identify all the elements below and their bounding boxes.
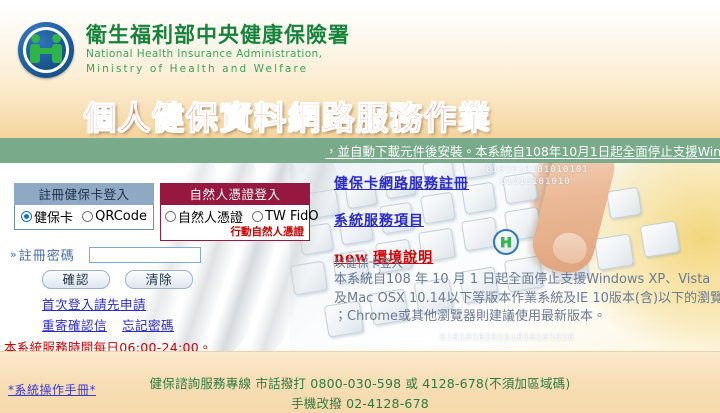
notice-block: 以健保卡登入 本系統自108 年 10 月 1 日起全面停止支援Windows … — [334, 255, 716, 327]
link-card-service-registration[interactable]: 健保卡網路服務註冊 — [334, 173, 469, 193]
site-header: 衛生福利部中央健康保險署 National Health Insurance A… — [0, 0, 720, 138]
radio-citizen-cert-icon[interactable] — [165, 211, 176, 222]
radio-citizen-cert-label: 自然人憑證 — [178, 207, 243, 226]
org-title-en-line2: Ministry of Health and Welfare — [86, 62, 350, 77]
radio-option-health-card[interactable]: 健保卡 — [21, 207, 73, 226]
card-login-heading: 註冊健保卡登入 — [14, 183, 154, 205]
notice-line-3: 及Mac OSX 10.14以下等版本作業系統及IE 10版本(含)以下的瀏覽器 — [334, 290, 716, 308]
first-time-apply-link[interactable]: 首次登入請先申請 — [42, 294, 146, 313]
notice-line-4: ；Chrome或其他瀏覽器則建議使用最新版本。 — [334, 308, 716, 326]
card-login-panel: 註冊健保卡登入 健保卡 QRCode — [14, 183, 154, 230]
password-row: » 註冊密碼 — [10, 245, 201, 264]
radio-option-qrcode[interactable]: QRCode — [82, 209, 147, 224]
radio-qrcode-icon[interactable] — [82, 211, 93, 222]
radio-option-citizen-cert[interactable]: 自然人憑證 — [165, 207, 243, 226]
binary-decor-2: 01010101010 — [500, 177, 571, 187]
radio-tw-fido-icon[interactable] — [252, 211, 263, 222]
announcement-marquee: ，並自動下載元件後安裝。本系統自108年10月1日起全面停止支援Window — [0, 138, 720, 163]
binary-decor-3: 010101010101010101010 — [440, 333, 575, 343]
radio-tw-fido-label: TW FidO — [265, 209, 319, 224]
password-label: 註冊密碼 — [19, 245, 75, 264]
bullet-icon: » — [10, 248, 17, 261]
forgot-password-link[interactable]: 忘記密碼 — [122, 315, 174, 334]
nhi-emblem-icon — [18, 22, 74, 78]
radio-health-card-icon[interactable] — [21, 211, 32, 222]
service-hours-text: 本系統服務時間每日06:00-24:00。 — [4, 337, 212, 351]
site-footer: *系統操作手冊* 健保諮詢服務專線 市話撥打 0800-030-598 或 41… — [0, 351, 720, 413]
footer-contact-line2: 手機改撥 02-4128-678 — [0, 394, 720, 413]
cert-panel-note: 行動自然人憑證 — [163, 226, 307, 239]
link-system-services[interactable]: 系統服務項目 — [334, 210, 469, 230]
login-buttons: 確認 清除 — [42, 269, 203, 289]
submit-button[interactable]: 確認 — [42, 270, 110, 289]
password-input[interactable] — [89, 247, 201, 263]
marquee-text[interactable]: ，並自動下載元件後安裝。本系統自108年10月1日起全面停止支援Window — [325, 141, 720, 160]
clear-button[interactable]: 清除 — [125, 270, 193, 289]
main-content: 0101010101010101 01010101010 01010101010… — [0, 163, 720, 351]
radio-health-card-label: 健保卡 — [34, 207, 73, 226]
page-title: 個人健保資料網路服務作業 — [84, 93, 492, 138]
radio-option-tw-fido[interactable]: TW FidO — [252, 209, 319, 224]
page-root: 衛生福利部中央健康保險署 National Health Insurance A… — [0, 0, 720, 413]
notice-line-2: 本系統自108 年 10 月 1 日起全面停止支援Windows XP、Vist… — [334, 271, 716, 289]
resend-confirmation-link[interactable]: 重寄確認信 — [42, 315, 107, 334]
org-title-en-line1: National Health Insurance Administration… — [86, 47, 350, 62]
cert-login-panel: 自然人憑證登入 自然人憑證 TW FidO 行動自然人憑證 — [160, 183, 310, 241]
login-area: 註冊健保卡登入 健保卡 QRCode 自然人憑證登入 — [0, 163, 320, 351]
org-titles: 衛生福利部中央健康保險署 National Health Insurance A… — [86, 23, 350, 78]
radio-qrcode-label: QRCode — [95, 209, 147, 224]
org-title-zh: 衛生福利部中央健康保險署 — [86, 23, 350, 47]
notice-line-1: 以健保卡登入 — [334, 255, 716, 271]
nhi-key-icon — [493, 229, 519, 255]
footer-contact: 健保諮詢服務專線 市話撥打 0800-030-598 或 4128-678(不須… — [0, 374, 720, 413]
binary-decor-1: 0101010101010101 — [486, 165, 589, 175]
footer-contact-line1: 健保諮詢服務專線 市話撥打 0800-030-598 或 4128-678(不須… — [0, 374, 720, 394]
cert-login-heading: 自然人憑證登入 — [160, 183, 310, 205]
card-login-options: 健保卡 QRCode — [14, 205, 154, 230]
logo-block: 衛生福利部中央健康保險署 National Health Insurance A… — [18, 22, 350, 78]
cert-login-options: 自然人憑證 TW FidO 行動自然人憑證 — [160, 205, 310, 241]
